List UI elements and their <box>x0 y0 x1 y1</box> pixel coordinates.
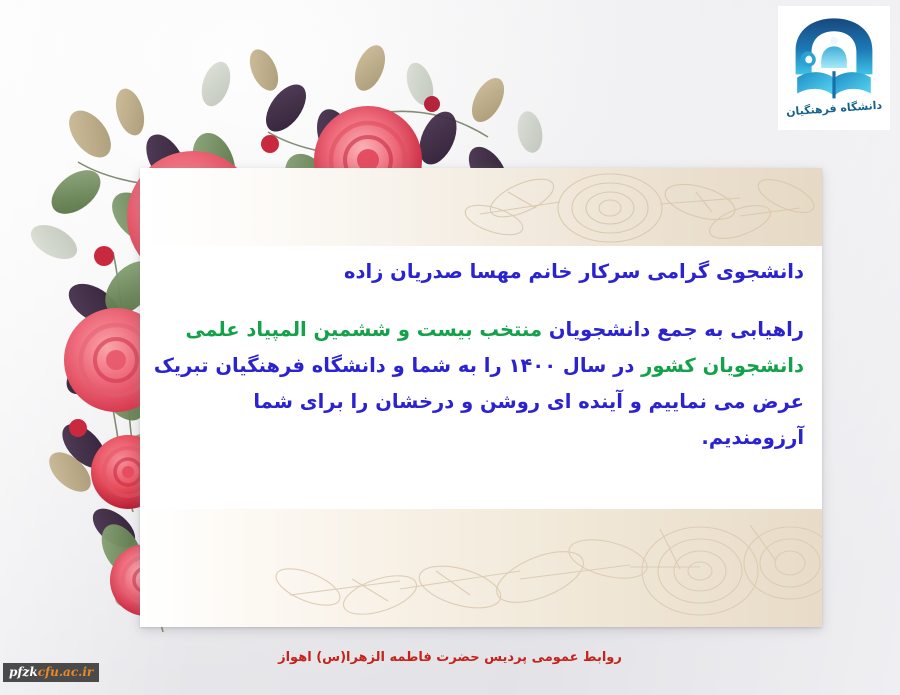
greeting-line: دانشجوی گرامی سرکار خانم مهسا صدریان زاد… <box>148 254 804 290</box>
watermark-suffix: cfu.ac.ir <box>38 665 94 679</box>
farhangian-university-logo: دانشگاه فرهنگیان <box>778 6 890 130</box>
message-body: دانشجوی گرامی سرکار خانم مهسا صدریان زاد… <box>140 254 822 456</box>
body-text: راهیابی به جمع دانشجویان منتخب بیست و شش… <box>148 312 804 456</box>
public-relations-credit: روابط عمومی پردیس حضرت فاطمه الزهرا(س) ا… <box>0 650 900 665</box>
body-part-1: راهیابی به جمع دانشجویان <box>542 318 804 341</box>
message-card: دانشجوی گرامی سرکار خانم مهسا صدریان زاد… <box>140 168 822 627</box>
site-watermark[interactable]: pfzkcfu.ac.ir <box>3 663 99 682</box>
greeting-poster: دانشگاه فرهنگیان <box>0 0 900 695</box>
watermark-prefix: pfzk <box>9 665 38 679</box>
bottom-rose-etching-band <box>140 509 822 627</box>
university-emblem-icon <box>786 12 882 108</box>
top-rose-etching-band <box>140 168 822 246</box>
